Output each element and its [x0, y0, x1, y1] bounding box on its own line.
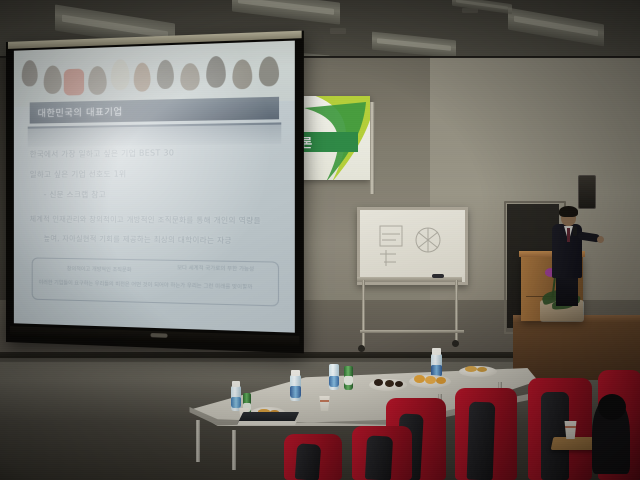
presenter-legs: [556, 276, 578, 306]
slide-line-3: - 신문 스크랩 참고: [30, 189, 282, 201]
slide-callout-2: 보다 세계적 국가로의 무한 가능성: [177, 264, 254, 273]
screen-pull-handle: [151, 333, 168, 338]
table-leg-1: [196, 420, 200, 462]
pastry-1: [374, 379, 383, 386]
pastry-3: [395, 381, 403, 387]
armrest-3: [541, 392, 569, 480]
whiteboard-tray: [357, 277, 462, 282]
attendee-head: [598, 394, 626, 420]
armrest-2: [467, 402, 496, 480]
whiteboard-leg-left: [362, 280, 365, 348]
presenter-hand: [597, 236, 604, 243]
microphone-icon: [573, 226, 577, 236]
slide-body: 한국에서 가장 일하고 싶은 기업 BEST 30 일하고 싶은 기업 선호도 …: [30, 146, 282, 256]
water-bottle-2-cap: [291, 370, 300, 376]
armrest-front-2: [365, 435, 393, 480]
slide-line-5: 높여, 자아실현적 기회를 제공하는 최상의 대학이라는 자긍: [30, 233, 282, 246]
pastry-2: [385, 380, 394, 387]
projection-screen: 대한민국의 대표기업 한국에서 가장 일하고 싶은 기업 BEST 30 일하고…: [6, 31, 304, 354]
snack-right-2: [477, 367, 487, 372]
orange-slice-3: [436, 377, 446, 384]
water-bottle-1-label: [231, 397, 241, 408]
green-bottle-2-label: [344, 376, 353, 385]
whiteboard-writing-icon: [360, 210, 465, 282]
water-bottle-3-label: [329, 376, 339, 387]
snack-right-1: [465, 366, 477, 372]
whiteboard: [357, 207, 468, 285]
whiteboard-wheel-left: [358, 345, 365, 352]
presenter-tie: [567, 228, 570, 242]
binder-pages: [237, 421, 297, 425]
whiteboard-wheel-right: [452, 340, 459, 347]
lecture-hall-photo: 수회 전략토론 환경공학과 대한민국의 대표기업: [0, 0, 640, 480]
slide-callout-3: 이러한 기업들이 요구하는 우리들의 비전은 어떤 것이 되어야 하는가 우리는…: [39, 279, 253, 291]
armrest-front-1: [295, 443, 321, 480]
water-bottle-1-cap: [232, 381, 240, 387]
slide-line-1: 한국에서 가장 일하고 싶은 기업 BEST 30: [30, 146, 282, 160]
presentation-slide: 대한민국의 대표기업 한국에서 가장 일하고 싶은 기업 BEST 30 일하고…: [14, 41, 295, 333]
paper-cup-side-ring: [565, 426, 576, 428]
slide-line-4: 체계적 인재관리와 창의적이고 개방적인 조직문화를 통해 개인의 역량을: [30, 214, 282, 226]
slide-callout-1: 창의적이고 개방적인 조직문화: [67, 265, 132, 273]
paper-cup-1-ring: [320, 400, 329, 402]
ceiling-vent-1: [330, 28, 346, 34]
slide-title: 대한민국의 대표기업: [30, 104, 123, 119]
ceiling-vent-3: [462, 8, 478, 13]
slide-band: [28, 125, 282, 147]
slide-line-2: 일하고 싶은 기업 선호도 1위: [30, 167, 282, 180]
presenter-hair: [559, 206, 578, 217]
slide-callout-box: 창의적이고 개방적인 조직문화 보다 세계적 국가로의 무한 가능성 이러한 기…: [32, 257, 279, 306]
slide-title-bar: 대한민국의 대표기업: [30, 97, 279, 124]
table-leg-2: [232, 430, 236, 470]
whiteboard-crossbar: [360, 330, 464, 333]
water-bottle-4-cap: [432, 348, 441, 355]
orange-slice-1: [414, 375, 425, 383]
speaker-icon: [578, 175, 596, 209]
marker-icon: [432, 274, 444, 278]
orange-slice-2: [425, 376, 436, 384]
water-bottle-2-label: [290, 386, 301, 398]
banner-pole: [370, 102, 375, 194]
